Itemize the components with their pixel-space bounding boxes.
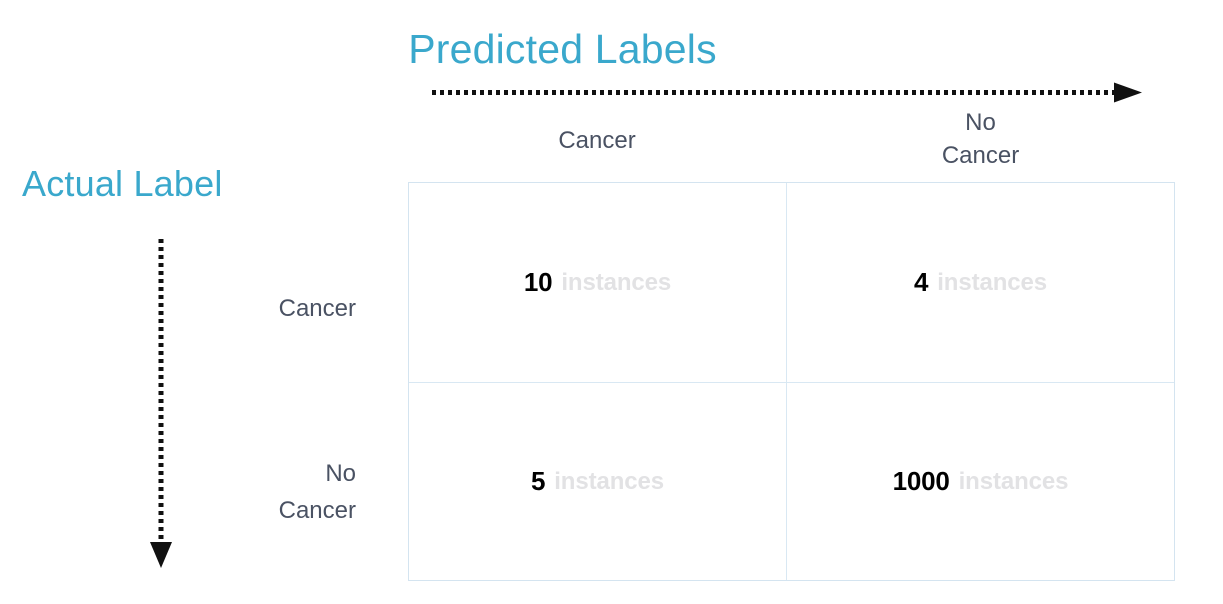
predicted-labels-title: Predicted Labels (0, 24, 1125, 74)
matrix-cell-unit: instances (937, 269, 1047, 297)
matrix-cell-unit: instances (554, 468, 664, 496)
matrix-cell-count: 5 (531, 466, 545, 497)
matrix-cell-true-negative: 1000 instances (787, 383, 1174, 580)
matrix-cell-true-positive: 10 instances (409, 183, 787, 383)
column-header-no-cancer: No Cancer (786, 106, 1175, 172)
matrix-cell-false-positive: 5 instances (409, 383, 787, 580)
confusion-matrix-grid: 10 instances 4 instances 5 instances 100… (408, 182, 1175, 581)
row-header-cancer: Cancer (160, 290, 356, 327)
matrix-cell-unit: instances (561, 269, 671, 297)
matrix-cell-false-negative: 4 instances (787, 183, 1174, 383)
row-header-no-cancer: No Cancer (160, 455, 356, 529)
matrix-cell-count: 1000 (893, 466, 950, 497)
matrix-cell-count: 10 (524, 267, 553, 298)
predicted-axis-arrow-icon (428, 80, 1150, 106)
matrix-cell-unit: instances (959, 468, 1069, 496)
matrix-cell-count: 4 (914, 267, 928, 298)
column-header-cancer: Cancer (408, 124, 786, 157)
actual-label-title: Actual Label (22, 162, 223, 206)
